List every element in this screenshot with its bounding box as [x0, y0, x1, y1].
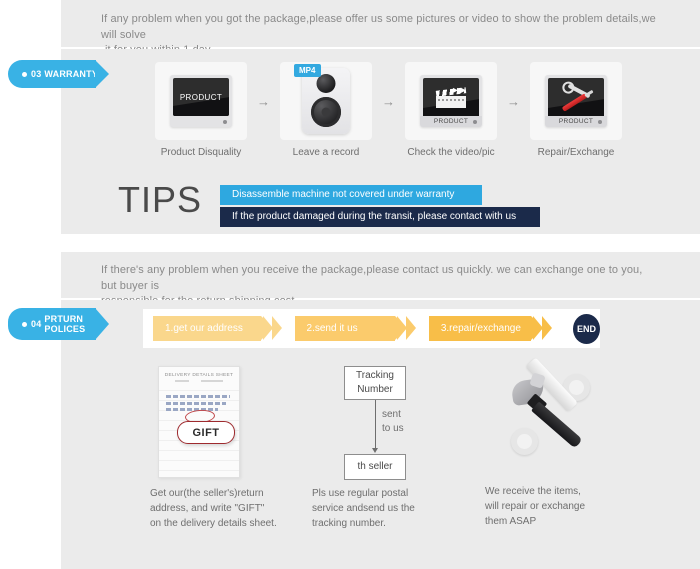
caption-line-3: on the delivery details sheet. — [150, 516, 310, 531]
warranty-step-3-card: ▸▸▸ PRODUCT — [405, 62, 497, 140]
return-panel-address-caption: Get our(the seller's)return address, and… — [150, 486, 310, 531]
screwdriver-wrench-icon: PRODUCT — [545, 75, 607, 127]
gift-callout-text: GIFT — [192, 427, 219, 439]
return-panel-tracking: Tracking Number sent to us th seller Pls… — [310, 366, 475, 531]
monitor-screen: PRODUCT — [173, 78, 229, 116]
sidebar-tab-warranty[interactable]: 03 WARRANTY — [8, 60, 96, 88]
tab-warranty-label: WARRANTY — [44, 69, 98, 79]
flow-connector-label: sent to us — [382, 408, 404, 436]
tips-bar-transit: If the product damaged during the transi… — [220, 207, 540, 227]
warranty-step-3-caption: Check the video/pic — [405, 147, 497, 158]
warranty-step-2[interactable]: MP4 Leave a record — [280, 62, 372, 158]
tab-warranty-number: 03 — [31, 69, 41, 79]
tab-return-label: PRTURN POLICES — [44, 314, 96, 334]
tips-bars: Disassemble machine not covered under wa… — [220, 185, 540, 227]
chevron-tail-2 — [397, 316, 423, 341]
device-base-text: PRODUCT — [434, 118, 468, 125]
return-intro-line-1: If there's any problem when you receive … — [101, 264, 642, 292]
tab-return-number: 04 — [31, 319, 41, 329]
return-panel-repair: We receive the items, will repair or exc… — [475, 366, 625, 529]
chevron-tail-1 — [263, 316, 289, 341]
tips-bar-warranty: Disassemble machine not covered under wa… — [220, 185, 482, 205]
return-panel-address: DELIVERY DETAILS SHEET GIFT Get our(the … — [140, 366, 310, 531]
return-steps-banner: 1.get our address 2.send it us 3.repair/… — [143, 309, 600, 348]
monitor-screen-text: PRODUCT — [180, 93, 222, 102]
bullet-dot-icon — [22, 322, 27, 327]
mp4-badge: MP4 — [294, 64, 321, 77]
gift-callout-bubble: GIFT — [177, 421, 235, 444]
return-panel-tracking-caption: Pls use regular postal service andsend u… — [312, 486, 475, 531]
step-arrow-icon-1: → — [247, 62, 280, 140]
tools-mini-icon — [559, 86, 593, 112]
return-detail-panels: DELIVERY DETAILS SHEET GIFT Get our(the … — [140, 366, 620, 541]
sidebar-tab-return-policies[interactable]: 04 PRTURN POLICES — [8, 308, 96, 340]
flow-label-line-1: sent — [382, 408, 404, 422]
led-indicator-icon — [473, 120, 477, 124]
speaker-large-driver — [311, 97, 341, 127]
led-indicator-icon — [598, 120, 602, 124]
return-step-1[interactable]: 1.get our address — [153, 316, 261, 341]
caption-line-1: Pls use regular postal — [312, 486, 475, 501]
warranty-step-2-caption: Leave a record — [280, 147, 372, 158]
device-base-text: PRODUCT — [559, 118, 593, 125]
tab-return-label-line-2: POLICES — [44, 324, 85, 334]
warranty-step-3[interactable]: ▸▸▸ PRODUCT Check the video/pic — [405, 62, 497, 158]
return-step-1-label: 1.get our address — [165, 323, 243, 334]
flow-label-line-2: to us — [382, 422, 404, 436]
warranty-step-1-caption: Product Disquality — [155, 147, 247, 158]
warranty-step-4-card: PRODUCT — [530, 62, 622, 140]
seller-box: th seller — [344, 454, 406, 480]
warranty-step-4[interactable]: PRODUCT Repair/Exchange — [530, 62, 622, 158]
warranty-step-1-card: PRODUCT — [155, 62, 247, 140]
tracking-number-box: Tracking Number — [344, 366, 406, 400]
flow-connector-line — [375, 400, 376, 450]
sheet-title: DELIVERY DETAILS SHEET — [159, 373, 239, 378]
tracking-flow-icon: Tracking Number sent to us th seller — [332, 366, 452, 478]
clapper-body — [436, 96, 466, 108]
tab-return-label-line-1: PRTURN — [44, 314, 83, 324]
led-indicator-icon — [223, 120, 227, 124]
caption-line-2: service andsend us the — [312, 501, 475, 516]
end-badge: END — [573, 314, 600, 344]
chevron-tail-3 — [533, 316, 559, 341]
sheet-subtitle-marks — [159, 380, 239, 382]
tracking-box-line-2: Number — [357, 384, 393, 395]
screwdriver-icon — [562, 93, 588, 112]
caption-line-1: We receive the items, — [485, 484, 625, 499]
hammer-wrench-tools-icon — [503, 366, 603, 476]
clapperboard-video-icon: ▸▸▸ PRODUCT — [420, 75, 482, 127]
caption-line-3: them ASAP — [485, 514, 625, 529]
return-step-3-label: 3.repair/exchange — [441, 323, 521, 334]
clapperboard-icon: ▸▸▸ — [436, 89, 466, 109]
wrench-head-bottom-icon — [511, 428, 538, 455]
step-arrow-icon-2: → — [372, 62, 405, 140]
warranty-intro-line-1: If any problem when you got the package,… — [101, 13, 656, 41]
warranty-step-4-caption: Repair/Exchange — [530, 147, 622, 158]
return-panel-repair-caption: We receive the items, will repair or exc… — [485, 484, 625, 529]
speaker-recorder-icon: MP4 — [302, 68, 350, 134]
fast-forward-icon: ▸▸▸ — [453, 85, 465, 96]
delivery-details-sheet-icon: DELIVERY DETAILS SHEET GIFT — [158, 366, 240, 478]
caption-line-2: address, and write "GIFT" — [150, 501, 310, 516]
tips-block: TIPS Disassemble machine not covered und… — [118, 180, 540, 227]
repair-screen — [548, 78, 604, 119]
monitor-product-icon: PRODUCT — [170, 75, 232, 127]
bullet-dot-icon — [22, 72, 27, 77]
hammer-handle-icon — [531, 401, 583, 448]
return-step-2[interactable]: 2.send it us — [295, 316, 395, 341]
return-step-3[interactable]: 3.repair/exchange — [429, 316, 531, 341]
caption-line-3: tracking number. — [312, 516, 475, 531]
warranty-step-2-card: MP4 — [280, 62, 372, 140]
caption-line-2: will repair or exchange — [485, 499, 625, 514]
flow-arrowhead-icon — [372, 448, 378, 453]
tips-heading: TIPS — [118, 180, 202, 220]
return-step-2-label: 2.send it us — [307, 323, 358, 334]
warranty-step-1[interactable]: PRODUCT Product Disquality — [155, 62, 247, 158]
video-screen: ▸▸▸ — [423, 78, 479, 119]
tracking-box-line-1: Tracking — [356, 370, 394, 381]
caption-line-1: Get our(the seller's)return — [150, 486, 310, 501]
page-root: If any problem when you got the package,… — [0, 0, 700, 569]
warranty-step-row: PRODUCT Product Disquality → MP4 Leave a… — [155, 62, 635, 162]
step-arrow-icon-3: → — [497, 62, 530, 140]
